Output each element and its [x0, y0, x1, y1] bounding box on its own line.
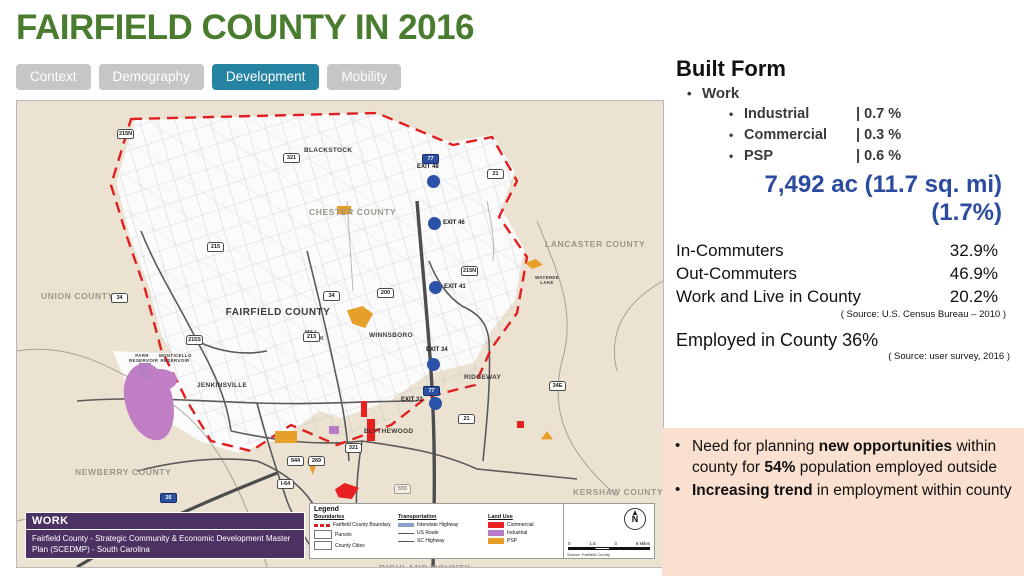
tab-mobility[interactable]: Mobility [327, 64, 401, 90]
route-shield-21: 21 [487, 169, 504, 179]
commercial-patch [361, 401, 367, 417]
interstate-shield-icon [398, 523, 414, 527]
exit-label-46: EXIT 46 [443, 220, 465, 226]
insights-list: Need for planning new opportunities with… [670, 436, 1012, 501]
legend-label: Parcels [335, 532, 352, 538]
sc-highway-shield-icon [398, 541, 414, 542]
exit-label-41: EXIT 41 [444, 284, 466, 290]
land-use-item-industrial: Industrial | 0.7 % [726, 104, 1016, 125]
map-label-newberry-county: NEWBERRY COUNTY [75, 467, 149, 477]
exit-dot [429, 397, 442, 410]
legend-label: Fairfield County Boundary [333, 522, 391, 528]
legend-label: SC Highway [417, 538, 445, 544]
psp-swatch-icon [488, 538, 504, 544]
land-use-item-psp: PSP | 0.6 % [726, 146, 1016, 167]
land-use-value: | 0.6 % [856, 146, 901, 167]
map-label-blythewood: BLYTHEWOOD [364, 428, 413, 435]
map-label-parr-reservoir: PARR RESERVOIR [129, 353, 155, 363]
legend-heading-transportation: Transportation [398, 514, 482, 520]
map-label-wateree-lake: WATEREE LAKE [535, 275, 559, 285]
legend-column-transportation: Transportation Interstate Highway US Rou… [398, 514, 482, 552]
industrial-patch [329, 426, 339, 434]
map-label-chester-county: CHESTER COUNTY [309, 207, 369, 217]
exit-dot [427, 358, 440, 371]
north-arrow-tip [633, 510, 637, 515]
map-label-union-county: UNION COUNTY [41, 291, 103, 301]
map-panel[interactable]: FAIRFIELD COUNTY CHESTER COUNTY LANCASTE… [16, 100, 664, 568]
industrial-swatch-icon [488, 530, 504, 536]
land-use-value: | 0.3 % [856, 125, 901, 146]
source-user-survey: ( Source: user survey, 2016 ) [676, 351, 1016, 362]
north-label: N [632, 514, 639, 524]
route-shield-34-west: 34 [111, 293, 128, 303]
commuter-row-out: Out-Commuters 46.9% [676, 262, 1016, 285]
work-label: Work [702, 85, 739, 102]
exit-dot [429, 281, 442, 294]
legend-column-land-use: Land Use Commercial Industrial PSP [488, 514, 560, 552]
route-shield-321-south: 321 [345, 443, 362, 453]
legend-item: US Route [398, 530, 482, 536]
work-group-label: Work Industrial | 0.7 % Commercial | 0.3… [684, 84, 1016, 167]
map-label-blackstock: BLACKSTOCK [304, 147, 352, 154]
map-title-heading: WORK [26, 513, 304, 530]
legend-label: Interstate Highway [417, 522, 458, 528]
map-label-richland-county: RICHLAND COUNTY [379, 563, 453, 568]
right-panel: Built Form Work Industrial | 0.7 % Comme… [676, 56, 1016, 362]
commercial-swatch-icon [488, 522, 504, 528]
scale-tick: 1.5 [589, 541, 595, 546]
route-shield-215n-east: 215N [461, 266, 478, 276]
legend-heading-boundaries: Boundaries [314, 514, 392, 520]
scale-tick: 3 [614, 541, 617, 546]
us-route-shield-icon [398, 533, 414, 534]
map-legend: Legend Boundaries Fairfield County Bound… [309, 503, 571, 559]
route-shield-i26: 26 [160, 493, 177, 503]
parcel-box-icon [314, 530, 332, 539]
exit-label-48: EXIT 48 [417, 164, 439, 170]
route-shield-944: 944 [287, 456, 304, 466]
exit-dot [427, 175, 440, 188]
map-label-fairfield-county: FAIRFIELD COUNTY [223, 307, 333, 319]
commuter-row-in: In-Commuters 32.9% [676, 239, 1016, 262]
industrial-patch [139, 363, 151, 379]
source-census: ( Source: U.S. Census Bureau – 2010 ) [676, 309, 1016, 320]
commuter-label: In-Commuters [676, 239, 784, 262]
land-use-name: Commercial [744, 125, 856, 146]
psp-patch [275, 431, 297, 443]
employed-in-county: Employed in County 36% [676, 330, 1016, 351]
total-area-highlight: 7,492 ac (11.7 sq. mi) (1.7%) [676, 171, 1016, 227]
legend-item: County Cities [314, 541, 392, 550]
exit-label-34: EXIT 34 [426, 347, 448, 353]
route-shield-269: 269 [308, 456, 325, 466]
commuter-label: Work and Live in County [676, 285, 861, 308]
land-use-name: Industrial [744, 104, 856, 125]
land-use-list: Industrial | 0.7 % Commercial | 0.3 % PS… [702, 104, 1016, 167]
legend-item: Commercial [488, 522, 560, 528]
scale-bar [568, 547, 650, 550]
legend-label: County Cities [335, 543, 365, 549]
land-use-item-commercial: Commercial | 0.3 % [726, 125, 1016, 146]
legend-item: Industrial [488, 530, 560, 536]
route-shield-i77-south: 77 [423, 386, 440, 396]
map-label-ridgeway: RIDGEWAY [464, 374, 501, 381]
slide: FAIRFIELD COUNTY IN 2016 Context Demogra… [0, 0, 1024, 576]
land-use-name: PSP [744, 146, 856, 167]
tab-bar: Context Demography Development Mobility [16, 64, 401, 90]
dashed-red-line-icon [314, 524, 330, 527]
map-label-monticello-reservoir: MONTICELLO RESERVOIR [159, 353, 191, 363]
exit-dot [428, 217, 441, 230]
route-shield-215: 215 [207, 242, 224, 252]
route-shield-21-south: 21 [458, 414, 475, 424]
tab-demography[interactable]: Demography [99, 64, 204, 90]
city-box-icon [314, 541, 332, 550]
commercial-patch [517, 421, 524, 428]
commuter-stats: In-Commuters 32.9% Out-Commuters 46.9% W… [676, 239, 1016, 320]
map-source-note: Source: Fairfield County [567, 552, 610, 557]
insight-item-1: Need for planning new opportunities with… [670, 436, 1012, 478]
tab-development[interactable]: Development [212, 64, 320, 90]
map-label-winnsboro: WINNSBORO [369, 332, 413, 339]
map-scale-block: N 0 1.5 3 6 Miles Source: Fairfield Coun… [563, 503, 655, 559]
commuter-value: 32.9% [950, 239, 998, 262]
exit-label-32: EXIT 32 [401, 397, 423, 403]
legend-item: Interstate Highway [398, 522, 482, 528]
page-title: FAIRFIELD COUNTY IN 2016 [16, 8, 474, 48]
map-label-lancaster-county: LANCASTER COUNTY [545, 239, 617, 249]
route-shield-555: 555 [394, 484, 411, 494]
commuter-label: Out-Commuters [676, 262, 797, 285]
route-shield-i64: I-64 [277, 479, 294, 489]
scale-tick: 6 Miles [636, 541, 650, 546]
route-shield-34e: 34E [549, 381, 566, 391]
legend-label: Industrial [507, 530, 527, 536]
commuter-row-live-work: Work and Live in County 20.2% [676, 285, 1016, 308]
legend-item: Parcels [314, 530, 392, 539]
total-area-line2: (1.7%) [676, 199, 1002, 227]
route-shield-213: 213 [303, 332, 320, 342]
map-label-jenkinsville: JENKINSVILLE [197, 382, 247, 389]
route-shield-215n: 215N [117, 129, 134, 139]
route-shield-215s: 215S [186, 335, 203, 345]
legend-heading-land-use: Land Use [488, 514, 560, 520]
work-group: Work Industrial | 0.7 % Commercial | 0.3… [676, 84, 1016, 167]
scale-tick: 0 [568, 541, 571, 546]
insights-callout: Need for planning new opportunities with… [662, 428, 1024, 576]
legend-label: PSP [507, 538, 517, 544]
map-canvas: FAIRFIELD COUNTY CHESTER COUNTY LANCASTE… [17, 101, 663, 567]
insight-item-2: Increasing trend in employment within co… [670, 480, 1012, 501]
legend-item: Fairfield County Boundary [314, 522, 392, 528]
legend-label: US Route [417, 530, 439, 536]
route-shield-34-east: 34 [323, 291, 340, 301]
legend-label: Commercial [507, 522, 534, 528]
legend-column-boundaries: Boundaries Fairfield County Boundary Par… [314, 514, 392, 552]
commuter-value: 46.9% [950, 262, 998, 285]
legend-item: SC Highway [398, 538, 482, 544]
scale-ticks: 0 1.5 3 6 Miles [568, 541, 650, 546]
route-shield-321: 321 [283, 153, 300, 163]
commuter-value: 20.2% [950, 285, 998, 308]
north-arrow-icon: N [624, 508, 646, 530]
map-title-subtitle: Fairfield County - Strategic Community &… [26, 530, 304, 558]
legend-title: Legend [314, 506, 566, 513]
route-shield-i77: 77 [422, 154, 439, 164]
land-use-value: | 0.7 % [856, 104, 901, 125]
tab-context[interactable]: Context [16, 64, 91, 90]
map-title-block: WORK Fairfield County - Strategic Commun… [25, 512, 305, 559]
route-shield-200: 200 [377, 288, 394, 298]
built-form-heading: Built Form [676, 56, 1016, 82]
legend-item: PSP [488, 538, 560, 544]
total-area-line1: 7,492 ac (11.7 sq. mi) [676, 171, 1002, 199]
map-label-kershaw-county: KERSHAW COUNTY [573, 487, 639, 497]
